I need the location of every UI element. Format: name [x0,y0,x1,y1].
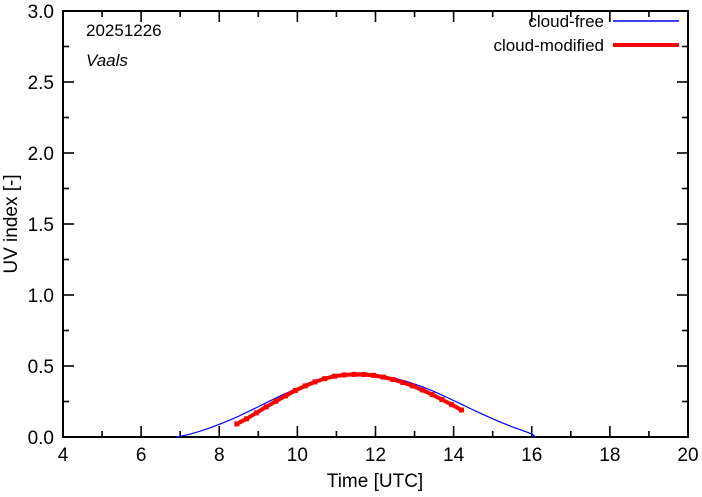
y-axis-minor-ticks [63,47,688,402]
y-tick-label: 0.5 [28,357,54,378]
series-marker [322,376,327,381]
uv-index-figure: 468101214161820 0.00.51.01.52.02.53.0 Ti… [0,0,702,497]
series-marker [420,388,425,393]
series-marker [391,377,396,382]
x-tick-label: 16 [521,445,542,466]
series-cloud-free [176,374,535,437]
series-marker [293,388,298,393]
series-marker [361,372,366,377]
x-tick-label: 6 [136,445,147,466]
x-axis-title: Time [UTC] [327,471,423,492]
series-marker [264,404,269,409]
x-tick-label: 10 [287,445,308,466]
series-line-cloud-free [176,374,535,437]
y-tick-label: 2.5 [28,73,54,94]
series-marker [352,372,357,377]
series-marker [342,372,347,377]
data-series-layer [176,372,535,437]
series-marker [332,374,337,379]
x-tick-label: 8 [214,445,225,466]
legend-label-cloud-free: cloud-free [528,12,604,31]
y-axis-tick-labels: 0.00.51.01.52.02.53.0 [28,2,54,449]
series-marker [430,392,435,397]
x-axis-tick-labels: 468101214161820 [58,445,699,466]
series-marker [283,393,288,398]
series-cloud-modified [234,372,464,427]
series-marker [273,399,278,404]
annotation-site: Vaals [86,51,128,70]
y-tick-label: 0.0 [28,428,54,449]
series-marker [234,421,239,426]
series-marker [439,397,444,402]
series-marker [459,408,464,413]
series-marker [400,380,405,385]
series-marker [449,402,454,407]
x-tick-label: 20 [677,445,698,466]
series-marker [303,383,308,388]
x-tick-label: 14 [443,445,465,466]
y-axis-title: UV index [-] [1,174,22,273]
x-tick-label: 4 [58,445,69,466]
y-tick-label: 1.5 [28,215,54,236]
chart-legend: cloud-free cloud-modified [493,12,679,55]
series-marker [312,379,317,384]
y-tick-label: 2.0 [28,144,54,165]
legend-label-cloud-modified: cloud-modified [493,36,604,55]
annotation-date: 20251226 [86,21,162,40]
series-line-cloud-modified [237,374,462,424]
uv-index-chart: 468101214161820 0.00.51.01.52.02.53.0 Ti… [0,0,702,497]
series-marker [254,410,259,415]
y-tick-label: 1.0 [28,286,54,307]
y-tick-label: 3.0 [28,2,54,23]
x-tick-label: 18 [599,445,620,466]
series-marker [381,375,386,380]
x-tick-label: 12 [365,445,386,466]
series-marker [410,383,415,388]
series-marker [371,373,376,378]
series-marker [244,416,249,421]
